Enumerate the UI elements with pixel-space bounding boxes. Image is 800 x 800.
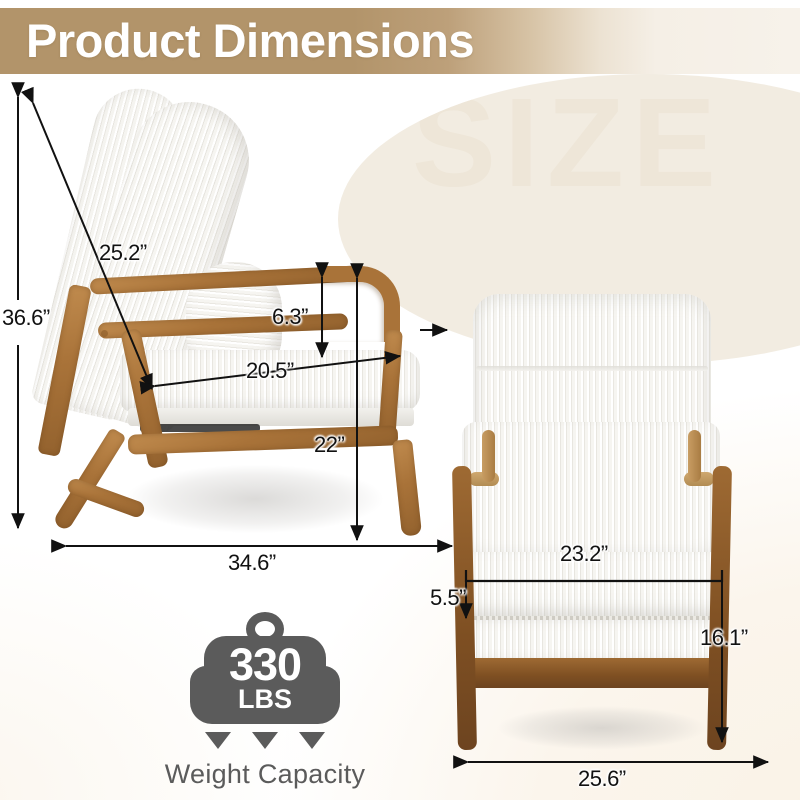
down-arrow-icon-1 bbox=[205, 732, 231, 749]
weight-arrows-row bbox=[190, 732, 340, 749]
weight-capacity-caption: Weight Capacity bbox=[130, 759, 400, 790]
dim-label-seat-depth: 20.5” bbox=[246, 358, 294, 384]
dim-label-arm-height: 22” bbox=[314, 432, 344, 458]
down-arrow-icon-3 bbox=[299, 732, 325, 749]
dim-label-overall-depth: 34.6” bbox=[228, 550, 276, 576]
down-arrow-icon-2 bbox=[252, 732, 278, 749]
dim-label-overall-height: 36.6” bbox=[2, 305, 50, 331]
dim-label-arm-clearance: 6.3” bbox=[272, 304, 308, 330]
dim-label-seat-width: 23.2” bbox=[560, 541, 608, 567]
weight-number: 330 bbox=[190, 642, 340, 687]
dim-label-seat-height: 16.1” bbox=[700, 625, 748, 651]
weight-capacity-block: 330 LBS Weight Capacity bbox=[130, 612, 400, 790]
dim-label-backrest: 25.2” bbox=[99, 240, 147, 266]
product-dimensions-infographic: SIZE Product Dimensions bbox=[0, 0, 800, 800]
weight-unit: LBS bbox=[190, 686, 340, 713]
dim-label-cushion-height: 5.5” bbox=[430, 585, 466, 611]
weight-icon: 330 LBS bbox=[190, 612, 340, 724]
dim-label-overall-width: 25.6” bbox=[578, 766, 626, 792]
dimension-lines-layer bbox=[0, 0, 800, 800]
